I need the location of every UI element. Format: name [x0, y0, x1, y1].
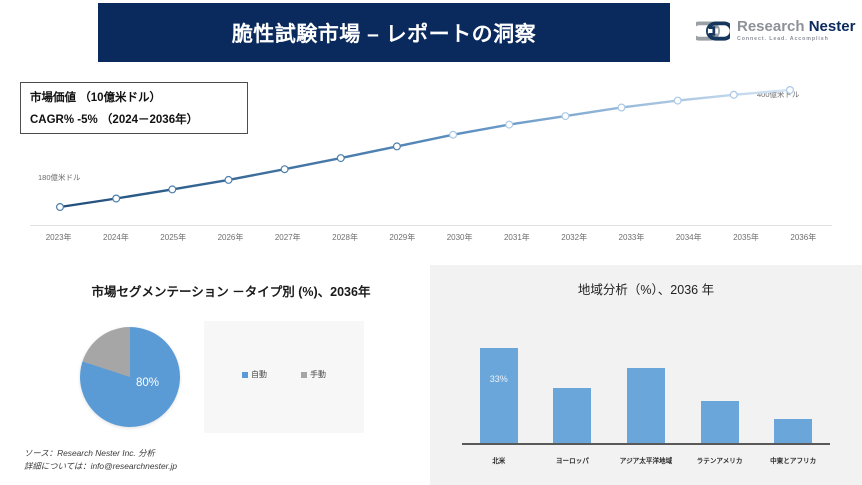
region-title: 地域分析（%）、2036 年 [430, 279, 862, 298]
bar-category-label: ラテンアメリカ [683, 455, 757, 465]
line-data-point [337, 155, 344, 162]
line-data-point [674, 97, 681, 104]
bar-column [609, 333, 683, 443]
source-note: ソース：Research Nester Inc. 分析 詳細については：info… [24, 447, 177, 473]
bar-category-labels: 北米ヨーロッパアジア太平洋地域ラテンアメリカ中東とアフリカ [462, 455, 830, 465]
line-data-point [730, 91, 737, 98]
pie-data-label: 80% [136, 377, 159, 389]
line-chart-plot [0, 62, 862, 227]
line-data-point [113, 195, 120, 202]
source-line-1: ソース：Research Nester Inc. 分析 [24, 447, 177, 460]
line-chart-tick: 2033年 [603, 232, 660, 243]
logo-name-part2: Nester [809, 18, 856, 35]
logo-name: Research Nester [737, 19, 855, 34]
bar [774, 419, 812, 444]
line-chart-tick: 2029年 [374, 232, 431, 243]
line-chart-tick: 2031年 [488, 232, 545, 243]
bar-column: 33% [462, 333, 536, 443]
market-growth-line-chart: 180億米ドル 400億米ドル 2023年2024年2025年2026年2027… [0, 62, 862, 257]
line-data-point [394, 143, 401, 150]
bar-category-label: アジア太平洋地域 [609, 455, 683, 465]
bar-category-label: ヨーロッパ [536, 455, 610, 465]
segmentation-title: 市場セグメンテーション －タイプ別 (%)、2036年 [36, 281, 426, 300]
pie-legend: 自動 手動 [204, 369, 364, 380]
line-data-point [506, 121, 513, 128]
bar [627, 368, 665, 443]
line-chart-tick: 2024年 [87, 232, 144, 243]
legend-item-manual: 手動 [301, 369, 326, 380]
line-chart-tick: 2032年 [546, 232, 603, 243]
line-data-point [281, 166, 288, 173]
bar-column [756, 333, 830, 443]
bar-column [683, 333, 757, 443]
bar-column [536, 333, 610, 443]
line-chart-tick: 2034年 [660, 232, 717, 243]
line-chart-tick: 2028年 [316, 232, 373, 243]
pie-legend-panel: 自動 手動 [204, 321, 364, 433]
line-chart-tick: 2025年 [145, 232, 202, 243]
pie-slices [80, 327, 180, 427]
page-title: 脆性試験市場 – レポートの洞察 [232, 18, 536, 48]
source-line-2: 詳細については：info@researchnester.jp [24, 460, 177, 473]
bar-value-label: 33% [480, 374, 518, 384]
bar-chart-axis [462, 443, 830, 445]
bar-category-label: 北米 [462, 455, 536, 465]
bar-category-label: 中東とアフリカ [756, 455, 830, 465]
line-data-point [618, 104, 625, 111]
legend-label-auto: 自動 [251, 369, 267, 380]
line-chart-tick: 2036年 [775, 232, 832, 243]
segmentation-pie-chart: 80% [80, 327, 180, 427]
interlocking-links-icon [696, 19, 730, 43]
line-data-point [225, 177, 232, 184]
legend-swatch-manual [301, 372, 307, 378]
bar [701, 401, 739, 443]
line-chart-tick: 2030年 [431, 232, 488, 243]
line-chart-x-ticks: 2023年2024年2025年2026年2027年2028年2029年2030年… [30, 232, 832, 243]
line-chart-tick: 2027年 [259, 232, 316, 243]
region-bar-chart: 33% 北米ヨーロッパアジア太平洋地域ラテンアメリカ中東とアフリカ [462, 320, 830, 473]
legend-item-auto: 自動 [242, 369, 267, 380]
line-data-point [562, 113, 569, 120]
regional-analysis-panel: 地域分析（%）、2036 年 33% 北米ヨーロッパアジア太平洋地域ラテンアメリ… [430, 265, 862, 485]
logo-tagline: Connect. Lead. Accomplish [737, 37, 855, 42]
line-chart-tick: 2026年 [202, 232, 259, 243]
research-nester-logo: Research Nester Connect. Lead. Accomplis… [696, 14, 854, 48]
line-data-point [787, 87, 794, 94]
bar [553, 388, 591, 443]
logo-name-part1: Research [737, 18, 805, 35]
legend-swatch-auto [242, 372, 248, 378]
bar-columns: 33% [462, 333, 830, 443]
line-chart-tick: 2035年 [717, 232, 774, 243]
line-data-point [57, 204, 64, 211]
title-banner: 脆性試験市場 – レポートの洞察 [98, 3, 670, 62]
legend-label-manual: 手動 [310, 369, 326, 380]
report-infographic-page: 脆性試験市場 – レポートの洞察 Research Nester Connect… [0, 0, 862, 485]
logo-text: Research Nester Connect. Lead. Accomplis… [737, 19, 855, 42]
line-data-point [450, 131, 457, 138]
line-chart-tick: 2023年 [30, 232, 87, 243]
line-data-point [169, 186, 176, 193]
line-chart-axis [30, 225, 832, 226]
bar: 33% [480, 348, 518, 444]
